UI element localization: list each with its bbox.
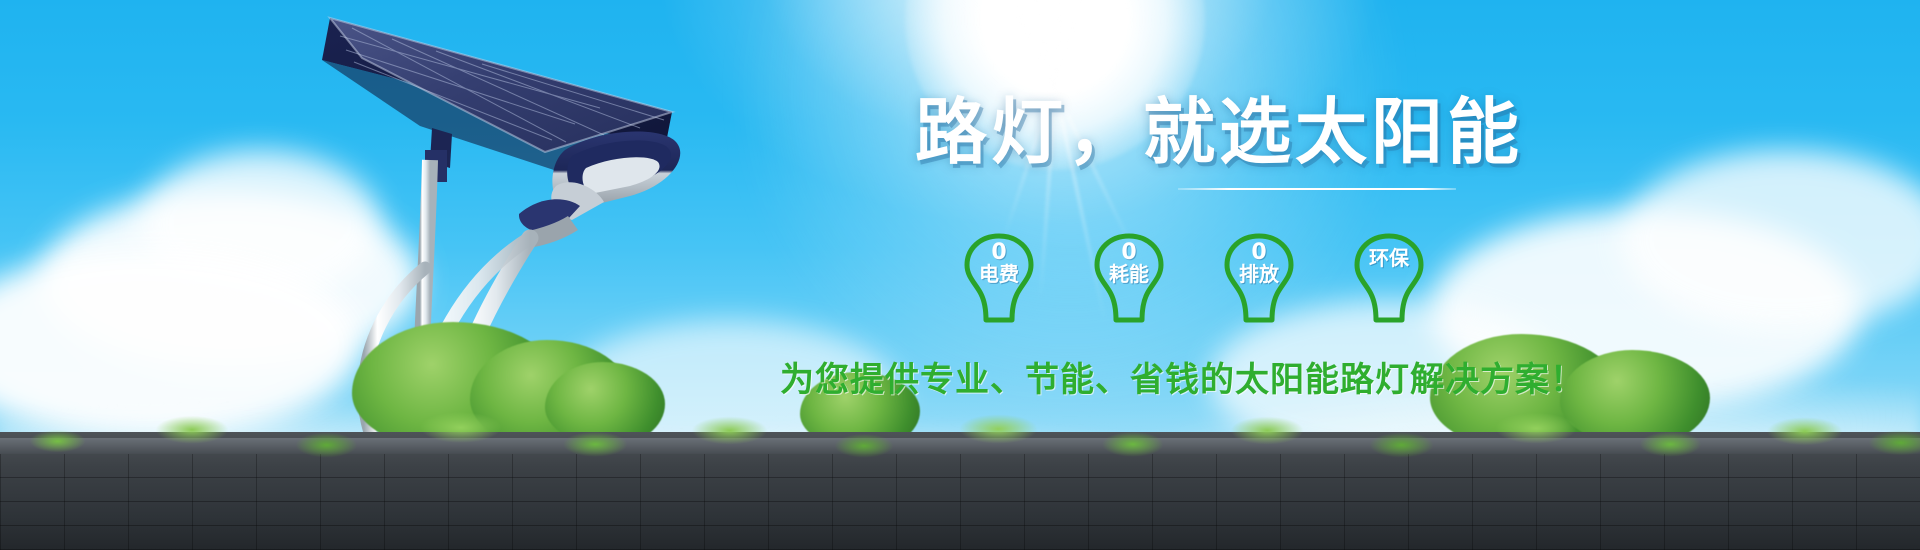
badge-label: 耗能 xyxy=(1090,264,1168,284)
feature-badge-2-emission[interactable]: 0 排放 xyxy=(1220,232,1298,328)
tagline: 为您提供专业、节能、省钱的太阳能路灯解决方案！ xyxy=(780,352,1585,401)
feature-badge-3-eco[interactable]: 环保 xyxy=(1350,232,1428,328)
badge-number: 0 xyxy=(960,242,1038,264)
badge-label: 排放 xyxy=(1220,264,1298,284)
banner-content: 路灯，就选太阳能 0 电费 0 耗能 xyxy=(0,0,1920,550)
divider xyxy=(1178,188,1456,190)
badge-text: 0 电费 xyxy=(960,242,1038,285)
solar-streetlight-banner: 路灯，就选太阳能 0 电费 0 耗能 xyxy=(0,0,1920,550)
feature-badge-list: 0 电费 0 耗能 0 排放 xyxy=(960,232,1428,328)
feature-badge-1-energy[interactable]: 0 耗能 xyxy=(1090,232,1168,328)
page-title: 路灯，就选太阳能 xyxy=(915,96,1523,168)
badge-label: 电费 xyxy=(960,264,1038,284)
badge-text: 0 耗能 xyxy=(1090,242,1168,285)
badge-label: 环保 xyxy=(1350,248,1428,268)
feature-badge-0-electricity[interactable]: 0 电费 xyxy=(960,232,1038,328)
badge-text: 环保 xyxy=(1350,248,1428,268)
badge-number: 0 xyxy=(1090,242,1168,264)
badge-text: 0 排放 xyxy=(1220,242,1298,285)
badge-number: 0 xyxy=(1220,242,1298,264)
